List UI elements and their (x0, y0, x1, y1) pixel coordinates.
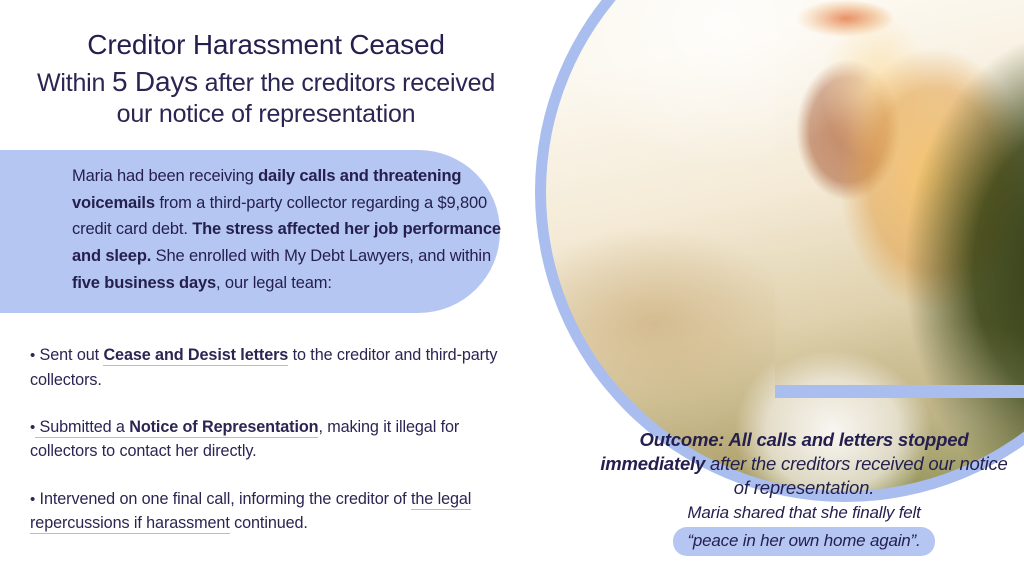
bullet-3-pre: Intervened on one final call, informing … (35, 490, 411, 508)
headline-line-1: Creditor Harassment Ceased (0, 28, 532, 61)
bullet-2-pre: Submitted a (35, 418, 129, 438)
hero-bleed-inner (775, 0, 1024, 392)
story-seg-6-bold: five business days (72, 274, 216, 292)
outcome-quote-highlight: “peace in her own home again”. (673, 527, 934, 556)
outcome-quote-wrap: “peace in her own home again”. (592, 527, 1016, 556)
headline-line-2-post: after the creditors received (198, 69, 495, 97)
action-bullet-list: • Sent out Cease and Desist letters to t… (30, 343, 510, 535)
outcome-label: Outcome: (640, 429, 725, 450)
headline-line-2-pre: Within (37, 69, 112, 97)
outcome-block: Outcome: All calls and letters stopped i… (592, 428, 1016, 556)
story-seg-7: , our legal team: (216, 274, 332, 292)
bullet-2-emphasis: Notice of Representation (129, 418, 318, 438)
bullet-3-post: continued. (230, 514, 308, 532)
bullet-1-pre: Sent out (35, 346, 103, 364)
list-item: • Submitted a Notice of Representation, … (30, 415, 510, 464)
photo-smiling-woman-bleed (775, 0, 1024, 392)
outcome-main-line: Outcome: All calls and letters stopped i… (592, 428, 1016, 500)
hero-bleed-clip (775, 0, 1024, 392)
bullet-1-emphasis: Cease and Desist letters (103, 346, 288, 366)
outcome-subline: Maria shared that she finally felt (592, 502, 1016, 524)
slide-canvas: Creditor Harassment Ceased Within 5 Days… (0, 0, 1024, 576)
list-item: • Intervened on one final call, informin… (30, 487, 510, 536)
headline-line-3: our notice of representation (0, 100, 532, 130)
story-paragraph: Maria had been receiving daily calls and… (72, 163, 512, 297)
page-title: Creditor Harassment Ceased Within 5 Days… (0, 28, 532, 129)
list-item: • Sent out Cease and Desist letters to t… (30, 343, 510, 392)
story-seg-1: Maria had been receiving (72, 167, 258, 185)
hero-bottom-blue-band (775, 385, 1024, 398)
headline-line-2: Within 5 Days after the creditors receiv… (0, 65, 532, 99)
headline-days-emphasis: 5 Days (112, 66, 198, 97)
hero-photo-right-bleed (775, 0, 1024, 392)
outcome-rest: after the creditors received our notice … (705, 453, 1008, 498)
story-seg-5: She enrolled with My Debt Lawyers, and w… (151, 247, 491, 265)
